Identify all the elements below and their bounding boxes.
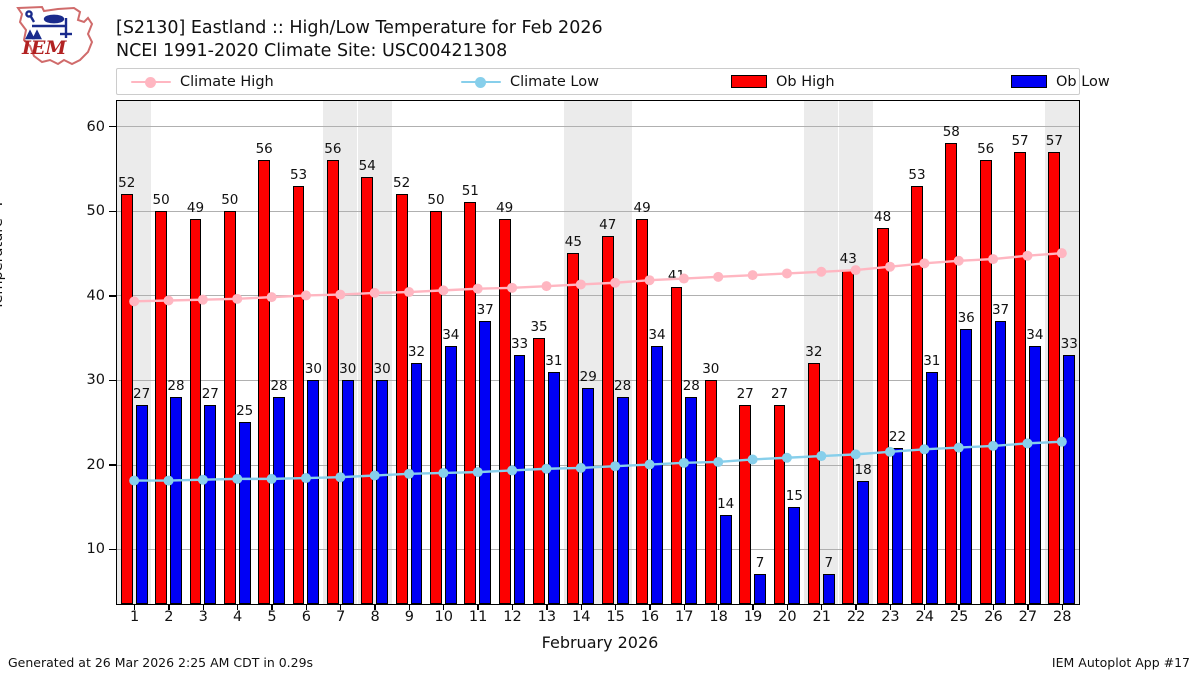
x-axis-tick-mark bbox=[374, 605, 375, 610]
line-marker-icon bbox=[851, 449, 861, 459]
line-marker-icon bbox=[645, 460, 655, 470]
x-axis-tick-mark bbox=[958, 605, 959, 610]
line-marker-icon bbox=[1022, 251, 1032, 261]
x-axis-tick-mark bbox=[546, 605, 547, 610]
x-axis-tick-mark bbox=[1062, 605, 1063, 610]
x-axis-tick-label-day-9: 9 bbox=[405, 609, 414, 625]
y-axis-label: Temperature °F bbox=[0, 198, 6, 310]
line-marker-icon bbox=[164, 296, 174, 306]
line-marker-icon bbox=[267, 292, 277, 302]
x-axis-tick-label-day-1: 1 bbox=[130, 609, 139, 625]
x-axis-tick-label-day-16: 16 bbox=[641, 609, 659, 625]
line-marker-icon bbox=[370, 471, 380, 481]
legend-label: Climate Low bbox=[510, 74, 599, 90]
x-axis-tick-label-day-26: 26 bbox=[984, 609, 1002, 625]
x-axis-tick-mark bbox=[306, 605, 307, 610]
line-marker-icon bbox=[507, 465, 517, 475]
x-axis-tick-label-day-13: 13 bbox=[538, 609, 556, 625]
x-axis-tick-mark bbox=[203, 605, 204, 610]
x-axis-tick-label-day-15: 15 bbox=[606, 609, 624, 625]
line-marker-icon bbox=[164, 476, 174, 486]
line-marker-icon bbox=[198, 475, 208, 485]
line-marker-icon bbox=[816, 267, 826, 277]
line-marker-icon bbox=[919, 444, 929, 454]
climate-lines bbox=[117, 101, 1079, 604]
line-marker-icon bbox=[1022, 438, 1032, 448]
y-axis-tick-label: 30 bbox=[45, 372, 105, 388]
x-axis-tick-label-day-27: 27 bbox=[1019, 609, 1037, 625]
plot-area: 5227502849275025562853305630543052325034… bbox=[116, 100, 1080, 605]
x-axis-tick-mark bbox=[271, 605, 272, 610]
iem-logo: IEM bbox=[8, 4, 104, 68]
chart-legend: Climate HighClimate LowOb HighOb Low bbox=[116, 68, 1080, 95]
x-axis-tick-label-day-7: 7 bbox=[336, 609, 345, 625]
x-axis-tick-mark bbox=[237, 605, 238, 610]
legend-label: Ob Low bbox=[1056, 74, 1110, 90]
line-marker-icon bbox=[301, 473, 311, 483]
x-axis-tick-mark bbox=[1027, 605, 1028, 610]
y-axis-tick-mark bbox=[109, 380, 116, 381]
x-axis-tick-label-day-8: 8 bbox=[370, 609, 379, 625]
footer-generated-text: Generated at 26 Mar 2026 2:25 AM CDT in … bbox=[8, 655, 313, 670]
line-marker-icon bbox=[988, 254, 998, 264]
x-axis-tick-mark bbox=[443, 605, 444, 610]
y-axis-tick-label: 50 bbox=[45, 203, 105, 219]
x-axis-tick-mark bbox=[890, 605, 891, 610]
legend-item-ob-low[interactable]: Ob Low bbox=[997, 69, 1110, 94]
x-axis-tick-label-day-25: 25 bbox=[950, 609, 968, 625]
x-axis-tick-mark bbox=[684, 605, 685, 610]
x-axis-tick-mark bbox=[409, 605, 410, 610]
x-axis-tick-mark bbox=[993, 605, 994, 610]
x-axis-tick-mark bbox=[855, 605, 856, 610]
line-marker-icon bbox=[267, 474, 277, 484]
x-axis-tick-mark bbox=[752, 605, 753, 610]
x-axis-tick-label-day-18: 18 bbox=[709, 609, 727, 625]
legend-item-climate-low[interactable]: Climate Low bbox=[447, 69, 599, 94]
x-axis-tick-label-day-5: 5 bbox=[267, 609, 276, 625]
line-marker-icon bbox=[782, 268, 792, 278]
footer-app-text: IEM Autoplot App #17 bbox=[1052, 655, 1190, 670]
chart-title-line1: [S2130] Eastland :: High/Low Temperature… bbox=[116, 17, 1016, 40]
legend-color-swatch-icon bbox=[731, 75, 767, 88]
y-axis-tick-mark bbox=[109, 464, 116, 465]
x-axis-tick-mark bbox=[718, 605, 719, 610]
x-axis-tick-label-day-20: 20 bbox=[778, 609, 796, 625]
page-title: [S2130] Eastland :: High/Low Temperature… bbox=[116, 17, 1016, 63]
line-marker-icon bbox=[713, 272, 723, 282]
x-axis-tick-mark bbox=[340, 605, 341, 610]
line-marker-icon bbox=[370, 288, 380, 298]
line-marker-icon bbox=[576, 279, 586, 289]
x-axis-tick-label-day-11: 11 bbox=[469, 609, 487, 625]
x-axis-tick-label-day-4: 4 bbox=[233, 609, 242, 625]
x-axis-tick-label-day-14: 14 bbox=[572, 609, 590, 625]
x-axis-tick-mark bbox=[512, 605, 513, 610]
x-axis-tick-label-day-2: 2 bbox=[164, 609, 173, 625]
line-marker-icon bbox=[473, 284, 483, 294]
y-axis-tick-label: 40 bbox=[45, 288, 105, 304]
line-marker-icon bbox=[1057, 437, 1067, 447]
line-marker-icon bbox=[610, 461, 620, 471]
svg-text:IEM: IEM bbox=[21, 37, 67, 59]
line-marker-icon bbox=[576, 463, 586, 473]
x-axis-tick-label-day-19: 19 bbox=[744, 609, 762, 625]
line-marker-icon bbox=[301, 290, 311, 300]
x-axis-tick-label-day-10: 10 bbox=[435, 609, 453, 625]
line-marker-icon bbox=[816, 451, 826, 461]
y-axis-tick-label: 20 bbox=[45, 457, 105, 473]
line-marker-icon bbox=[507, 283, 517, 293]
line-marker-icon bbox=[954, 443, 964, 453]
line-marker-icon bbox=[885, 447, 895, 457]
line-marker-icon bbox=[541, 464, 551, 474]
line-marker-icon bbox=[438, 468, 448, 478]
x-axis-tick-mark bbox=[615, 605, 616, 610]
x-axis-tick-mark bbox=[134, 605, 135, 610]
y-axis-tick-label: 10 bbox=[45, 541, 105, 557]
line-marker-icon bbox=[679, 274, 689, 284]
line-marker-icon bbox=[610, 278, 620, 288]
line-marker-icon bbox=[404, 469, 414, 479]
line-marker-icon bbox=[335, 472, 345, 482]
y-axis-tick-mark bbox=[109, 126, 116, 127]
x-axis-tick-mark bbox=[924, 605, 925, 610]
x-axis-tick-label-day-28: 28 bbox=[1053, 609, 1071, 625]
x-axis-tick-mark bbox=[581, 605, 582, 610]
chart-title-line2: NCEI 1991-2020 Climate Site: USC00421308 bbox=[116, 40, 1016, 63]
x-axis-tick-label-day-24: 24 bbox=[916, 609, 934, 625]
legend-line-marker-icon bbox=[131, 75, 171, 89]
line-marker-icon bbox=[473, 467, 483, 477]
x-axis-tick-mark bbox=[649, 605, 650, 610]
x-axis-tick-mark bbox=[821, 605, 822, 610]
line-marker-icon bbox=[129, 296, 139, 306]
legend-item-ob-high[interactable]: Ob High bbox=[717, 69, 835, 94]
line-marker-icon bbox=[713, 457, 723, 467]
x-axis-tick-label-day-3: 3 bbox=[199, 609, 208, 625]
y-axis-tick-mark bbox=[109, 211, 116, 212]
line-marker-icon bbox=[129, 476, 139, 486]
plot-inner: 5227502849275025562853305630543052325034… bbox=[117, 101, 1079, 604]
line-marker-icon bbox=[198, 295, 208, 305]
x-axis-tick-label-day-22: 22 bbox=[847, 609, 865, 625]
y-axis-tick-mark bbox=[109, 549, 116, 550]
x-axis-tick-mark bbox=[477, 605, 478, 610]
y-axis-tick-label: 60 bbox=[45, 119, 105, 135]
x-axis-tick-label-day-17: 17 bbox=[675, 609, 693, 625]
line-marker-icon bbox=[885, 262, 895, 272]
line-marker-icon bbox=[782, 453, 792, 463]
x-axis-tick-mark bbox=[787, 605, 788, 610]
line-marker-icon bbox=[748, 454, 758, 464]
line-marker-icon bbox=[988, 441, 998, 451]
line-marker-icon bbox=[645, 275, 655, 285]
legend-color-swatch-icon bbox=[1011, 75, 1047, 88]
line-marker-icon bbox=[919, 258, 929, 268]
x-axis-tick-label-day-23: 23 bbox=[881, 609, 899, 625]
legend-label: Climate High bbox=[180, 74, 274, 90]
line-marker-icon bbox=[954, 256, 964, 266]
legend-line-marker-icon bbox=[461, 75, 501, 89]
line-marker-icon bbox=[1057, 248, 1067, 258]
line-marker-icon bbox=[232, 294, 242, 304]
x-axis-tick-label-day-6: 6 bbox=[302, 609, 311, 625]
line-marker-icon bbox=[404, 287, 414, 297]
legend-item-climate-high[interactable]: Climate High bbox=[117, 69, 274, 94]
legend-label: Ob High bbox=[776, 74, 835, 90]
line-marker-icon bbox=[679, 458, 689, 468]
x-axis-tick-label-day-12: 12 bbox=[503, 609, 521, 625]
line-marker-icon bbox=[851, 265, 861, 275]
line-marker-icon bbox=[438, 285, 448, 295]
line-marker-icon bbox=[541, 281, 551, 291]
line-marker-icon bbox=[232, 474, 242, 484]
x-axis-tick-mark bbox=[168, 605, 169, 610]
x-axis-tick-label-day-21: 21 bbox=[812, 609, 830, 625]
line-marker-icon bbox=[748, 270, 758, 280]
y-axis-tick-mark bbox=[109, 295, 116, 296]
line-marker-icon bbox=[335, 290, 345, 300]
x-axis-label: February 2026 bbox=[0, 633, 1200, 652]
